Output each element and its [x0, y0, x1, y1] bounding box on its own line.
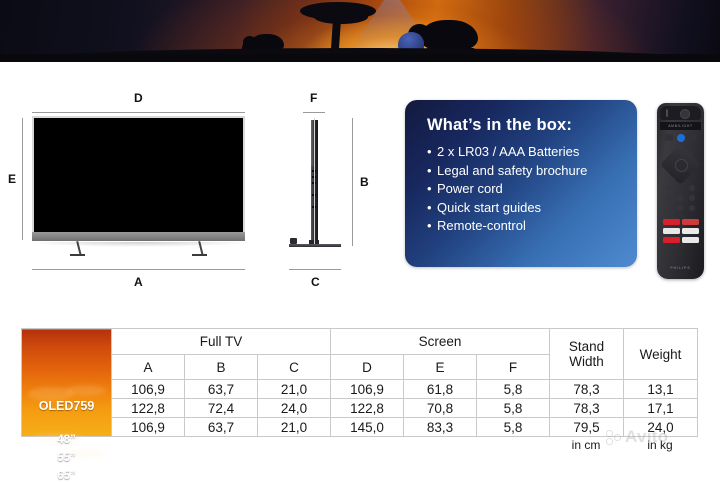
- mute-icon: [677, 195, 683, 201]
- bullet-icon: •: [427, 143, 437, 162]
- avito-watermark: Avito: [606, 424, 714, 450]
- remote-mic-bar-icon: [666, 109, 668, 117]
- list-item: •2 x LR03 / AAA Batteries: [427, 143, 587, 162]
- acacia-tree-silhouette: [300, 2, 376, 54]
- hero-banner: [0, 0, 720, 62]
- table-row: 106,9 63,7 21,0 106,9 61,8 5,8 78,3 13,1: [22, 380, 698, 399]
- list-item-label: Quick start guides: [437, 200, 541, 215]
- dimension-line-d: [32, 112, 245, 113]
- freeview-app-button-icon: [682, 237, 699, 243]
- cell: 5,8: [477, 399, 550, 418]
- volume-down-icon: [666, 205, 672, 211]
- tv-dimension-diagram: D E A F B C: [0, 62, 400, 302]
- dimension-line-c: [289, 269, 341, 270]
- rakuten-tv-app-button-icon: [663, 228, 680, 234]
- dimension-label-f: F: [310, 91, 317, 105]
- ambilight-label: AMBILIGHT: [660, 122, 701, 130]
- cell: 106,9: [331, 380, 404, 399]
- brand-cell: OLED759 48” 55” 65”: [22, 329, 112, 437]
- remote-control-image: AMBILIGHT PHILIPS: [657, 103, 704, 279]
- dimension-line-b: [352, 118, 353, 246]
- dimension-line-a: [32, 269, 245, 270]
- info-icon: [677, 205, 683, 211]
- product-spec-sheet: D E A F B C What’s in the box: •2 x LR0: [0, 0, 720, 462]
- cell: 106,9: [112, 418, 185, 437]
- ok-button-icon: [675, 159, 688, 172]
- avito-dots-icon: [606, 429, 622, 445]
- size-tag-48: 48”: [22, 434, 111, 446]
- table-row: 106,9 63,7 21,0 145,0 83,3 5,8 79,5 24,0: [22, 418, 698, 437]
- tv-front-bottom-bezel: [32, 232, 245, 241]
- back-button-icon: [666, 185, 672, 191]
- dimension-line-f: [303, 112, 325, 113]
- dimension-label-d: D: [134, 91, 143, 105]
- cell: 78,3: [550, 399, 624, 418]
- box-contents-list: •2 x LR03 / AAA Batteries •Legal and saf…: [427, 143, 587, 236]
- table-row: 122,8 72,4 24,0 122,8 70,8 5,8 78,3 17,1: [22, 399, 698, 418]
- cell: 122,8: [112, 399, 185, 418]
- cell: 5,8: [477, 418, 550, 437]
- list-item-label: Legal and safety brochure: [437, 163, 587, 178]
- header-weight: Weight: [624, 329, 698, 380]
- dimension-line-e: [22, 118, 23, 240]
- group-header-full-tv: Full TV: [112, 329, 331, 355]
- bullet-icon: •: [427, 162, 437, 181]
- cell: 78,3: [550, 380, 624, 399]
- header-stand-width: Stand Width: [550, 329, 624, 380]
- cell: 70,8: [404, 399, 477, 418]
- channel-up-icon: [689, 195, 695, 201]
- cell: 21,0: [258, 418, 331, 437]
- cell: 61,8: [404, 380, 477, 399]
- power-button-icon: [680, 109, 690, 119]
- column-header-c: C: [258, 355, 331, 380]
- tv-front-shadow: [28, 242, 250, 247]
- cell: 72,4: [185, 399, 258, 418]
- prime-video-app-button-icon: [682, 219, 699, 225]
- list-item: •Legal and safety brochure: [427, 162, 587, 181]
- column-header-f: F: [477, 355, 550, 380]
- cell: 122,8: [331, 399, 404, 418]
- tv-side-base: [289, 244, 341, 247]
- dimension-label-c: C: [311, 275, 320, 289]
- column-header-e: E: [404, 355, 477, 380]
- list-item-label: 2 x LR03 / AAA Batteries: [437, 144, 579, 159]
- channel-down-icon: [689, 205, 695, 211]
- cell: 106,9: [112, 380, 185, 399]
- cell: 13,1: [624, 380, 698, 399]
- column-header-d: D: [331, 355, 404, 380]
- column-header-a: A: [112, 355, 185, 380]
- specifications-table: OLED759 48” 55” 65” Full TV Screen Stand…: [21, 328, 697, 435]
- cell: 145,0: [331, 418, 404, 437]
- philips-logo: PHILIPS: [657, 266, 704, 270]
- cell: 24,0: [258, 399, 331, 418]
- cell: 83,3: [404, 418, 477, 437]
- settings-icon: [688, 134, 696, 141]
- source-icon: [665, 134, 673, 141]
- list-item: •Quick start guides: [427, 199, 587, 218]
- ground-base: [0, 54, 720, 62]
- dimension-label-a: A: [134, 275, 143, 289]
- list-item-label: Power cord: [437, 181, 503, 196]
- bullet-icon: •: [427, 217, 437, 236]
- netflix-app-button-icon: [663, 219, 680, 225]
- avito-watermark-text: Avito: [625, 427, 668, 447]
- youtube-app-button-icon: [663, 237, 680, 243]
- cell: 5,8: [477, 380, 550, 399]
- whats-in-the-box-panel: What’s in the box: •2 x LR03 / AAA Batte…: [405, 100, 637, 267]
- elephant-silhouette-large: [420, 20, 478, 50]
- tv-front-view: [32, 116, 245, 240]
- home-button-icon: [689, 185, 695, 191]
- dimension-label-e: E: [8, 172, 16, 186]
- tv-stand-foot-right: [192, 254, 207, 256]
- brand-name: OLED759: [22, 399, 111, 413]
- list-item: •Power cord: [427, 180, 587, 199]
- disney-plus-app-button-icon: [682, 228, 699, 234]
- ambilight-button-icon: [677, 134, 685, 142]
- list-item: •Remote-control: [427, 217, 587, 236]
- cell: 21,0: [258, 380, 331, 399]
- size-tag-65: 65”: [22, 470, 111, 482]
- box-title: What’s in the box:: [427, 116, 572, 135]
- volume-up-icon: [666, 195, 672, 201]
- column-header-b: B: [185, 355, 258, 380]
- cell: 63,7: [185, 380, 258, 399]
- group-header-screen: Screen: [331, 329, 550, 355]
- bullet-icon: •: [427, 199, 437, 218]
- remote-source-row: [665, 134, 696, 142]
- cell: 17,1: [624, 399, 698, 418]
- dimension-tick-f: [314, 118, 315, 244]
- tv-stand-foot-left: [70, 254, 85, 256]
- cell: 63,7: [185, 418, 258, 437]
- list-item-label: Remote-control: [437, 218, 526, 233]
- dimension-label-b: B: [360, 175, 369, 189]
- bullet-icon: •: [427, 180, 437, 199]
